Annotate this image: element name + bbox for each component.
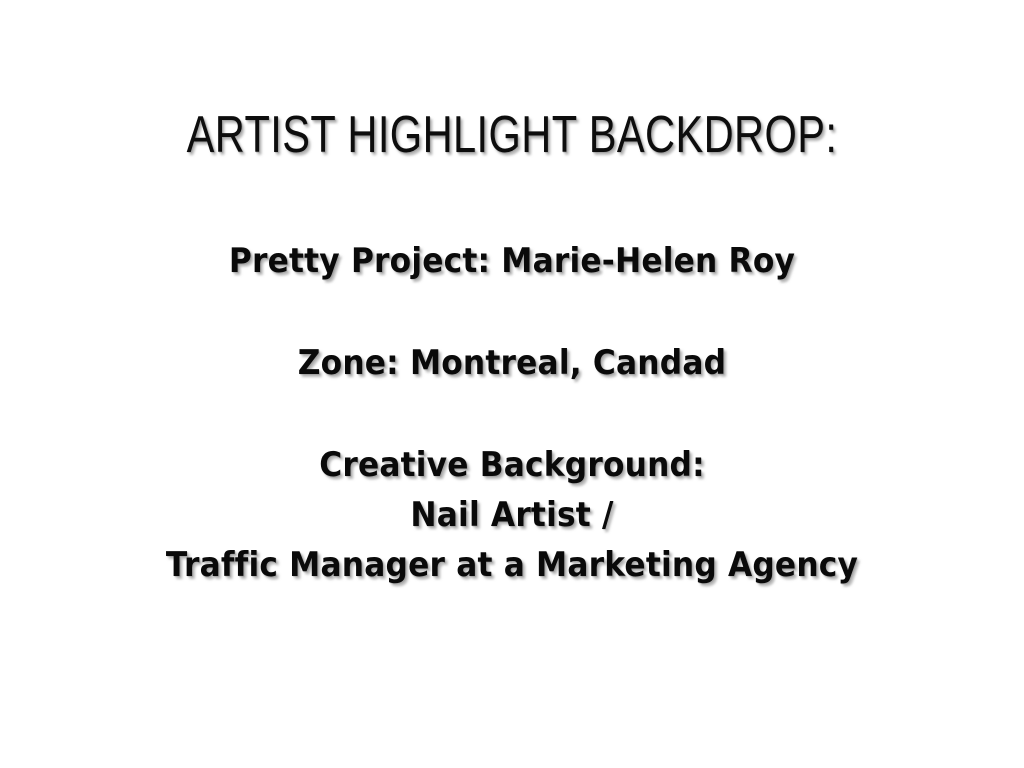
slide-body: Pretty Project: Marie-Helen Roy Zone: Mo… (0, 236, 1024, 590)
presentation-slide: ARTIST HIGHLIGHT BACKDROP: Pretty Projec… (0, 0, 1024, 768)
background-role-line: Nail Artist / (41, 490, 983, 540)
page-title: ARTIST HIGHLIGHT BACKDROP: (102, 107, 921, 163)
background-heading-line: Creative Background: (41, 440, 983, 490)
background-job-line: Traffic Manager at a Marketing Agency (41, 540, 983, 590)
block-spacer (0, 388, 1024, 440)
background-block: Creative Background: Nail Artist / Traff… (0, 440, 1024, 590)
project-block: Pretty Project: Marie-Helen Roy (0, 236, 1024, 286)
zone-line: Zone: Montreal, Candad (41, 338, 983, 388)
zone-block: Zone: Montreal, Candad (0, 338, 1024, 388)
project-line: Pretty Project: Marie-Helen Roy (41, 236, 983, 286)
block-spacer (0, 286, 1024, 338)
